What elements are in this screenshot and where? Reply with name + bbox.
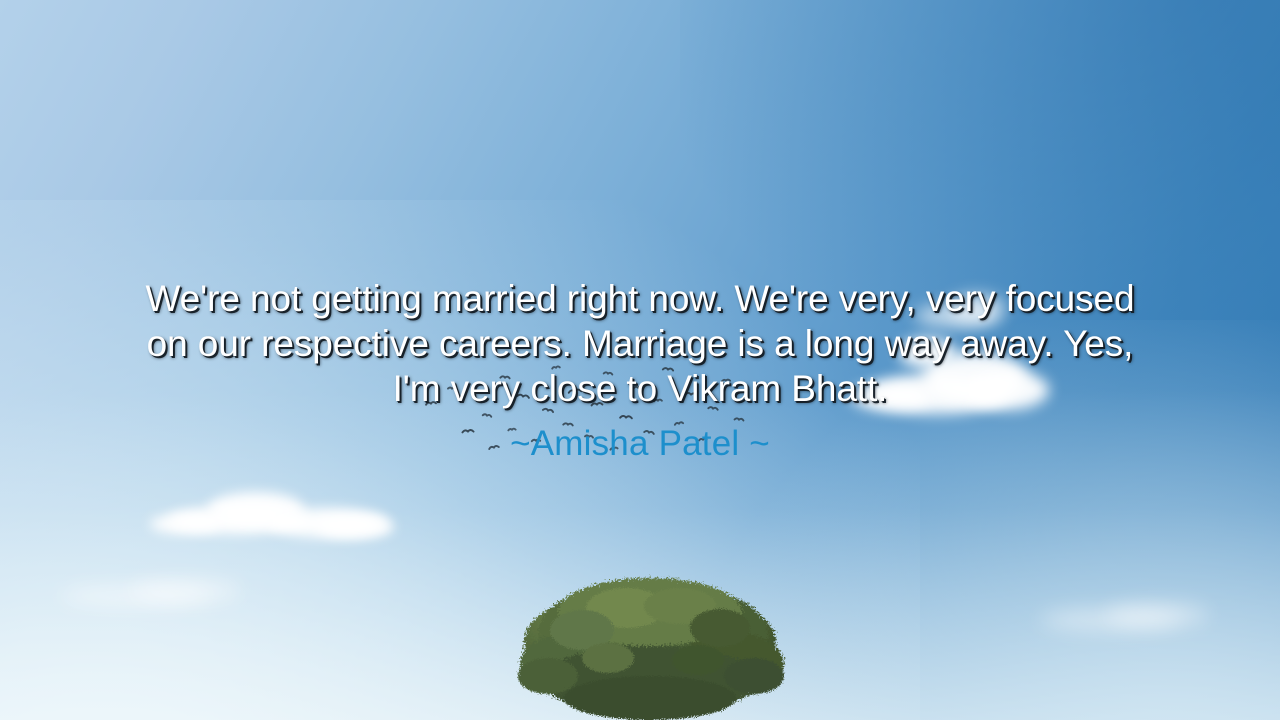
quote-card: We're not getting married right now. We'…: [0, 0, 1280, 720]
quote-attribution: ~Amisha Patel ~: [44, 424, 1236, 464]
quote-block: We're not getting married right now. We'…: [0, 276, 1280, 464]
quote-text: We're not getting married right now. We'…: [44, 276, 1236, 411]
